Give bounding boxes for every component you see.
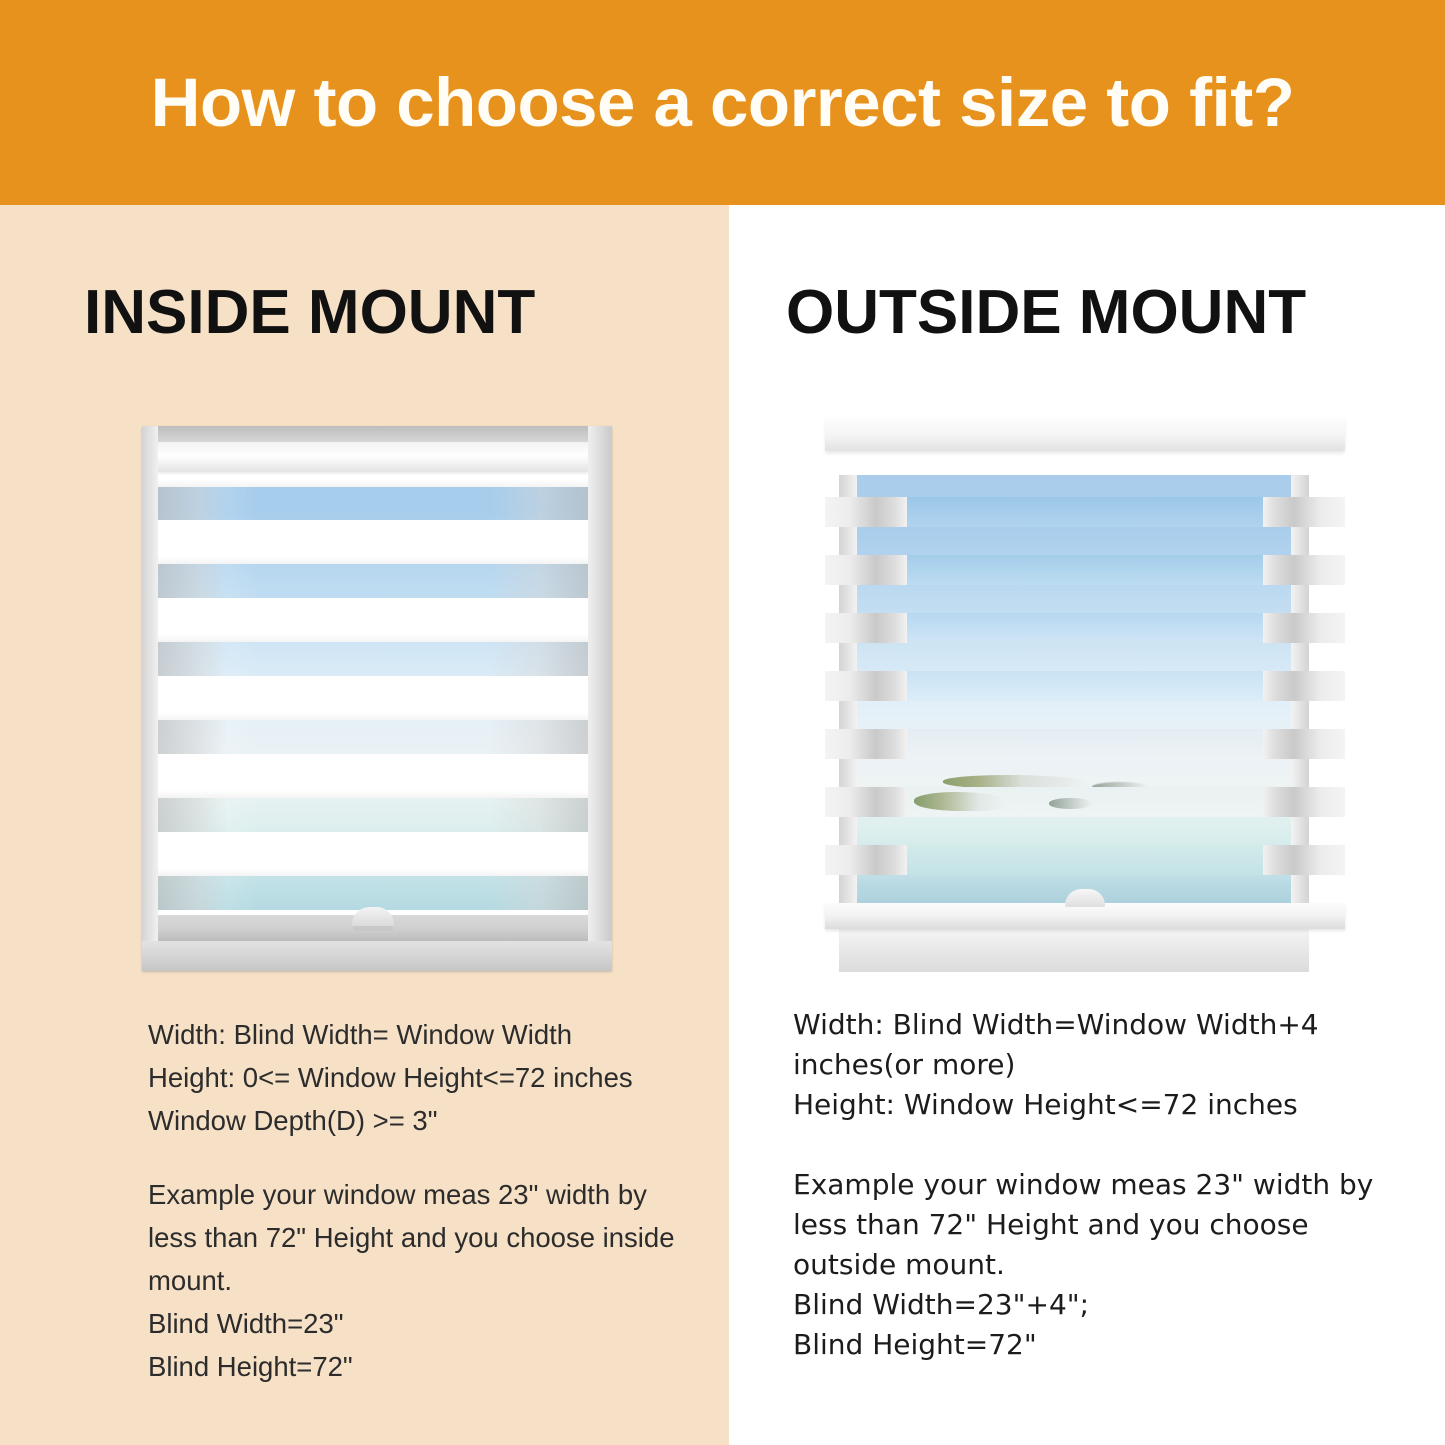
- blind-sheer-band: [158, 876, 588, 910]
- blind-sheer-band: [158, 642, 588, 676]
- blind-headrail: [158, 442, 588, 472]
- slat-end-cap-left: [825, 497, 907, 527]
- content-area: INSIDE MOUNT: [0, 205, 1445, 1445]
- outside-mount-panel: OUTSIDE MOUNT: [729, 205, 1445, 1445]
- example-line: less than 72" Height and you choose: [793, 1205, 1353, 1245]
- blind-opaque-band: [158, 520, 588, 564]
- spec-line: Width: Blind Width= Window Width: [148, 1013, 693, 1056]
- window-frame-left-reveal: [142, 426, 158, 971]
- blind-slat: [825, 787, 1345, 817]
- slat-end-cap-right: [1263, 497, 1345, 527]
- slat-view-band: [907, 497, 1263, 527]
- blind-headrail: [825, 417, 1345, 451]
- slat-end-cap-left: [825, 845, 907, 875]
- blind-opaque-band: [158, 676, 588, 720]
- slat-end-cap-left: [825, 671, 907, 701]
- window-frame-top-reveal: [142, 426, 612, 442]
- slat-end-cap-right: [1263, 671, 1345, 701]
- example-line: Blind Height=72": [793, 1325, 1353, 1365]
- blind-opaque-band: [158, 598, 588, 642]
- slat-end-cap-left: [825, 787, 907, 817]
- window-frame-bottom-reveal: [142, 941, 612, 971]
- example-line: Example your window meas 23" width by: [793, 1165, 1353, 1205]
- example-line: Example your window meas 23" width by: [148, 1173, 693, 1216]
- spec-line: Window Depth(D) >= 3": [148, 1099, 693, 1142]
- blind-sheer-band: [158, 564, 588, 598]
- blind-slat: [825, 729, 1345, 759]
- slat-view-band: [907, 555, 1263, 585]
- blind-opaque-band: [158, 832, 588, 876]
- slat-end-cap-left: [825, 729, 907, 759]
- window-frame-left-jamb: [839, 475, 857, 972]
- slat-view-band: [907, 613, 1263, 643]
- inside-mount-panel: INSIDE MOUNT: [0, 205, 729, 1445]
- slat-end-cap-right: [1263, 729, 1345, 759]
- spec-line: Height: Window Height<=72 inches: [793, 1085, 1353, 1125]
- slat-end-cap-right: [1263, 845, 1345, 875]
- blind-sheer-band: [158, 487, 588, 520]
- outside-mount-window-illustration: [825, 417, 1345, 972]
- example-line: Blind Width=23"+4";: [793, 1285, 1353, 1325]
- infographic-page: How to choose a correct size to fit? INS…: [0, 0, 1445, 1445]
- spec-line: Height: 0<= Window Height<=72 inches: [148, 1056, 693, 1099]
- example-line: outside mount.: [793, 1245, 1353, 1285]
- blind-slat: [825, 497, 1345, 527]
- slat-end-cap-right: [1263, 555, 1345, 585]
- blind-slat: [825, 613, 1345, 643]
- page-title: How to choose a correct size to fit?: [151, 63, 1295, 142]
- blind-slat: [825, 845, 1345, 875]
- slat-end-cap-left: [825, 613, 907, 643]
- window-sill: [839, 928, 1309, 972]
- inside-mount-specs: Width: Blind Width= Window Width Height:…: [148, 1013, 693, 1142]
- header-banner: How to choose a correct size to fit?: [0, 0, 1445, 205]
- island-shape-small: [1049, 798, 1092, 808]
- slat-view-band: [907, 671, 1263, 701]
- slat-view-band: [907, 845, 1263, 875]
- blind-opaque-band: [158, 754, 588, 798]
- blind-pull-handle: [1065, 889, 1105, 907]
- window-opening: [158, 442, 588, 941]
- inside-mount-heading: INSIDE MOUNT: [84, 277, 535, 348]
- blind-handle-slot: [353, 926, 393, 931]
- island-shape: [914, 792, 1007, 811]
- window-frame-right-reveal: [588, 426, 612, 971]
- example-line: Blind Height=72": [148, 1345, 693, 1388]
- spec-line: inches(or more): [793, 1045, 1353, 1085]
- blind-slat: [825, 555, 1345, 585]
- example-line: Blind Width=23": [148, 1302, 693, 1345]
- example-line: less than 72" Height and you choose insi…: [148, 1216, 693, 1259]
- outside-mount-example: Example your window meas 23" width by le…: [793, 1165, 1353, 1365]
- slat-end-cap-right: [1263, 787, 1345, 817]
- slat-end-cap-right: [1263, 613, 1345, 643]
- example-line: mount.: [148, 1259, 693, 1302]
- blind-slat: [825, 671, 1345, 701]
- inside-mount-window-illustration: [142, 426, 612, 971]
- zebra-blind-fabric: [158, 442, 588, 941]
- slat-view-band: [907, 787, 1263, 817]
- spec-line: Width: Blind Width=Window Width+4: [793, 1005, 1353, 1045]
- blind-sheer-band: [158, 720, 588, 754]
- outside-mount-heading: OUTSIDE MOUNT: [786, 277, 1306, 348]
- inside-mount-example: Example your window meas 23" width by le…: [148, 1173, 693, 1388]
- window-frame-right-jamb: [1291, 475, 1309, 972]
- blind-sheer-band: [158, 798, 588, 832]
- outside-mount-specs: Width: Blind Width=Window Width+4 inches…: [793, 1005, 1353, 1125]
- blind-pull-handle: [352, 907, 394, 927]
- slat-end-cap-left: [825, 555, 907, 585]
- slat-view-band: [907, 729, 1263, 759]
